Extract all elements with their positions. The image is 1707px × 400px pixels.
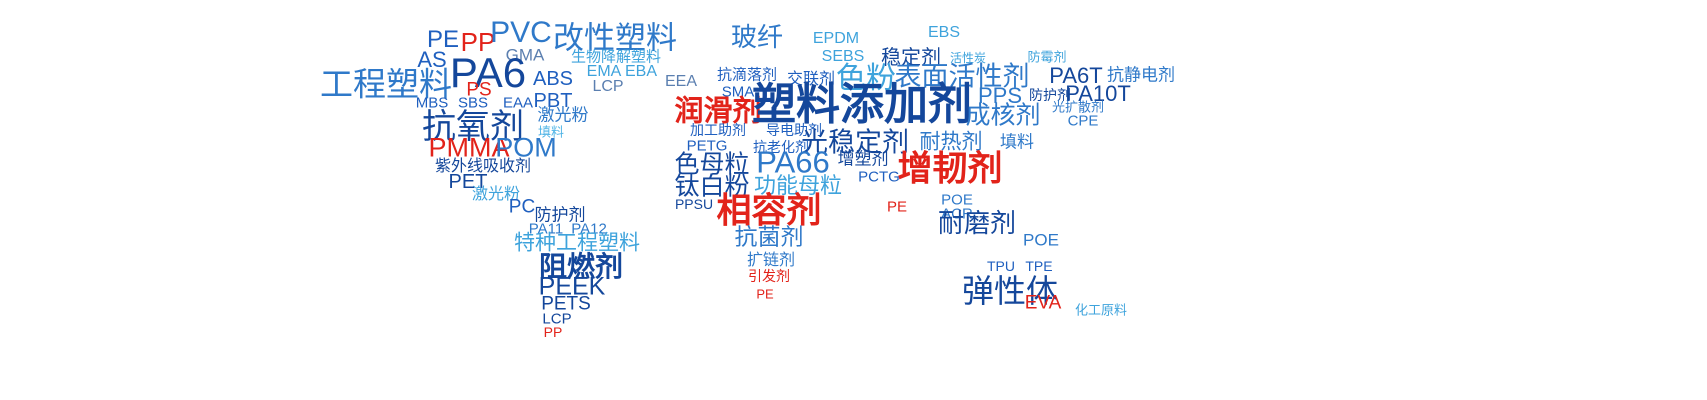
- word-cloud-term[interactable]: 激光粉: [538, 108, 589, 125]
- word-cloud-term[interactable]: CPE: [1068, 114, 1099, 129]
- word-cloud-term[interactable]: PC: [509, 198, 535, 217]
- word-cloud-term[interactable]: PCTG: [858, 170, 900, 185]
- word-cloud-canvas: PEPPPVCGMA改性塑料玻纤EPDMEBSAS生物降解塑料SEBS稳定剂活性…: [0, 0, 1707, 400]
- word-cloud-term[interactable]: ABS: [533, 69, 573, 89]
- word-cloud-term[interactable]: LCP: [592, 79, 623, 95]
- word-cloud-term[interactable]: PS: [466, 81, 491, 100]
- word-cloud-term[interactable]: TPE: [1025, 259, 1052, 273]
- word-cloud-term[interactable]: 塑料添加剂: [752, 83, 972, 127]
- word-cloud-term[interactable]: POE: [1023, 232, 1059, 249]
- word-cloud-term[interactable]: 抗菌剂: [735, 227, 804, 250]
- word-cloud-term[interactable]: EVA: [1025, 294, 1062, 313]
- word-cloud-term[interactable]: TPU: [987, 259, 1015, 273]
- word-cloud-term[interactable]: EBA: [625, 64, 657, 80]
- word-cloud-term[interactable]: 化工原料: [1075, 305, 1127, 318]
- word-cloud-term[interactable]: PE: [887, 200, 907, 215]
- word-cloud-term[interactable]: PA66: [756, 147, 830, 178]
- word-cloud-term[interactable]: 加工助剂: [690, 124, 746, 138]
- word-cloud-term[interactable]: PP: [544, 325, 563, 339]
- word-cloud-term[interactable]: EBS: [928, 25, 960, 41]
- word-cloud-term[interactable]: PVC: [490, 18, 552, 48]
- word-cloud-term[interactable]: 耐磨剂: [938, 211, 1016, 237]
- word-cloud-term[interactable]: 扩链剂: [747, 252, 795, 268]
- word-cloud-term[interactable]: EPDM: [813, 31, 859, 47]
- word-cloud-term[interactable]: 成核剂: [965, 103, 1040, 128]
- word-cloud-term[interactable]: 填料: [1000, 135, 1034, 152]
- word-cloud-term[interactable]: 引发剂: [748, 270, 790, 284]
- word-cloud-term[interactable]: PPSU: [675, 197, 713, 211]
- word-cloud-term[interactable]: 增塑剂: [838, 152, 889, 169]
- word-cloud-term[interactable]: PE: [756, 288, 773, 301]
- word-cloud-term[interactable]: 润滑剂: [674, 97, 761, 126]
- word-cloud-term[interactable]: 玻纤: [731, 25, 783, 51]
- word-cloud-term[interactable]: 增韧剂: [897, 153, 1002, 188]
- word-cloud-term[interactable]: EEA: [665, 74, 697, 90]
